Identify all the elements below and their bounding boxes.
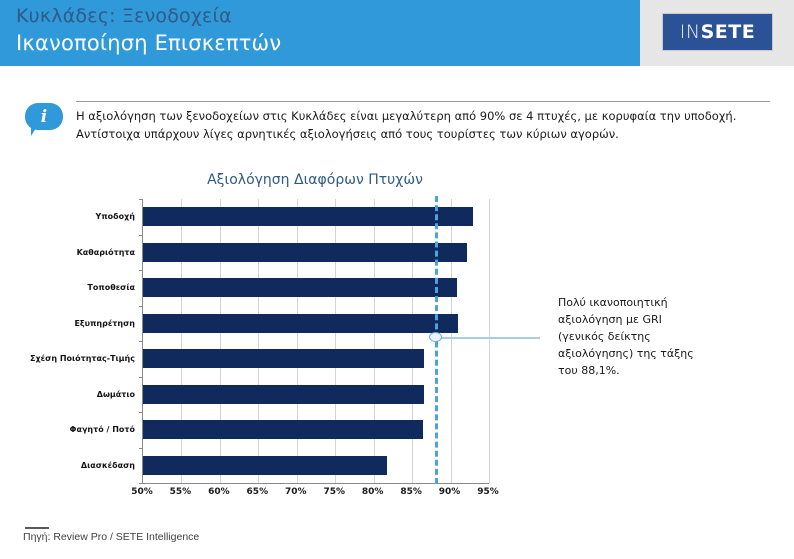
chart-y-tick — [139, 377, 143, 378]
gri-annotation-line-3: (γενικός δείκτης — [558, 328, 738, 345]
chart-x-tick-label: 95% — [468, 487, 508, 497]
chart-category-label: Καθαριότητα — [15, 248, 135, 257]
info-bubble-letter: i — [25, 103, 63, 130]
chart-y-tick — [139, 199, 143, 200]
insete-logo-in: IN — [680, 21, 701, 43]
chart-category-label: Εξυπηρέτηση — [15, 319, 135, 328]
chart-category-label: Διασκέδαση — [15, 461, 135, 470]
chart-y-tick — [139, 306, 143, 307]
chart-gridline — [335, 199, 336, 483]
chart-title: Αξιολόγηση Διαφόρων Πτυχών — [142, 172, 488, 188]
page-header: Κυκλάδες: Ξενοδοχεία Ικανοποίηση Επισκεπ… — [0, 0, 794, 66]
info-divider — [76, 101, 770, 102]
annotation-leader-line — [439, 337, 540, 339]
chart-gridline — [258, 199, 259, 483]
chart-category-label: Δωμάτιο — [15, 390, 135, 399]
annotation-leader-head-icon — [429, 332, 442, 342]
chart-y-tick — [139, 235, 143, 236]
chart-gridline — [489, 199, 490, 483]
chart-gridline — [181, 199, 182, 483]
chart-bar — [143, 278, 457, 297]
chart-bar — [143, 456, 387, 475]
gri-annotation-line-5: του 88,1%. — [558, 362, 738, 379]
chart-x-tick-label: 85% — [391, 487, 431, 497]
chart-y-tick — [139, 341, 143, 342]
chart-x-tick-label: 75% — [314, 487, 354, 497]
info-bubble-icon: i — [25, 103, 63, 136]
chart-gridline — [412, 199, 413, 483]
chart-x-tick-label: 65% — [237, 487, 277, 497]
chart-category-label: Σχέση Ποιότητας-Τιμής — [15, 354, 135, 363]
footer-divider — [25, 527, 49, 529]
chart-category-label: Τοποθεσία — [15, 283, 135, 292]
chart-bar — [143, 385, 424, 404]
chart-gridline — [451, 199, 452, 483]
chart-bar — [143, 207, 473, 226]
chart-category-label: Υποδοχή — [15, 212, 135, 221]
chart-x-tick-label: 60% — [199, 487, 239, 497]
chart-gridline — [297, 199, 298, 483]
source-note: Πηγή: Review Pro / SETE Intelligence — [23, 531, 199, 543]
chart-bar — [143, 420, 423, 439]
chart-bar — [143, 349, 424, 368]
chart-category-label: Φαγητό / Ποτό — [15, 425, 135, 434]
gri-annotation-line-4: αξιολόγησης) της τάξης — [558, 345, 738, 362]
chart-y-tick — [139, 448, 143, 449]
info-paragraph: Η αξιολόγηση των ξενοδοχείων στις Κυκλάδ… — [76, 108, 776, 144]
gri-annotation-line-1: Πολύ ικανοποιητική — [558, 294, 738, 311]
chart-x-tick-label: 80% — [353, 487, 393, 497]
insete-logo-sete: SETE — [701, 21, 756, 43]
chart-gridline — [220, 199, 221, 483]
chart-x-tick-label: 90% — [430, 487, 470, 497]
insete-logo-text: INSETE — [680, 23, 755, 42]
chart-bar — [143, 314, 458, 333]
chart-y-tick — [139, 412, 143, 413]
info-line-1: Η αξιολόγηση των ξενοδοχείων στις Κυκλάδ… — [76, 108, 776, 126]
info-line-2: Αντίστοιχα υπάρχουν λίγες αρνητικές αξιο… — [76, 126, 776, 144]
chart-x-tick-label: 50% — [122, 487, 162, 497]
page-title-line-2: Ικανοποίηση Επισκεπτών — [16, 31, 281, 55]
chart-bar — [143, 243, 467, 262]
gri-annotation: Πολύ ικανοποιητική αξιολόγηση με GRI (γε… — [558, 294, 738, 379]
chart-x-tick-label: 70% — [276, 487, 316, 497]
chart-y-tick — [139, 270, 143, 271]
chart-gridline — [374, 199, 375, 483]
page-title-line-1: Κυκλάδες: Ξενοδοχεία — [16, 5, 232, 27]
gri-annotation-line-2: αξιολόγηση με GRI — [558, 311, 738, 328]
insete-logo: INSETE — [663, 14, 772, 50]
chart-x-tick-label: 55% — [160, 487, 200, 497]
